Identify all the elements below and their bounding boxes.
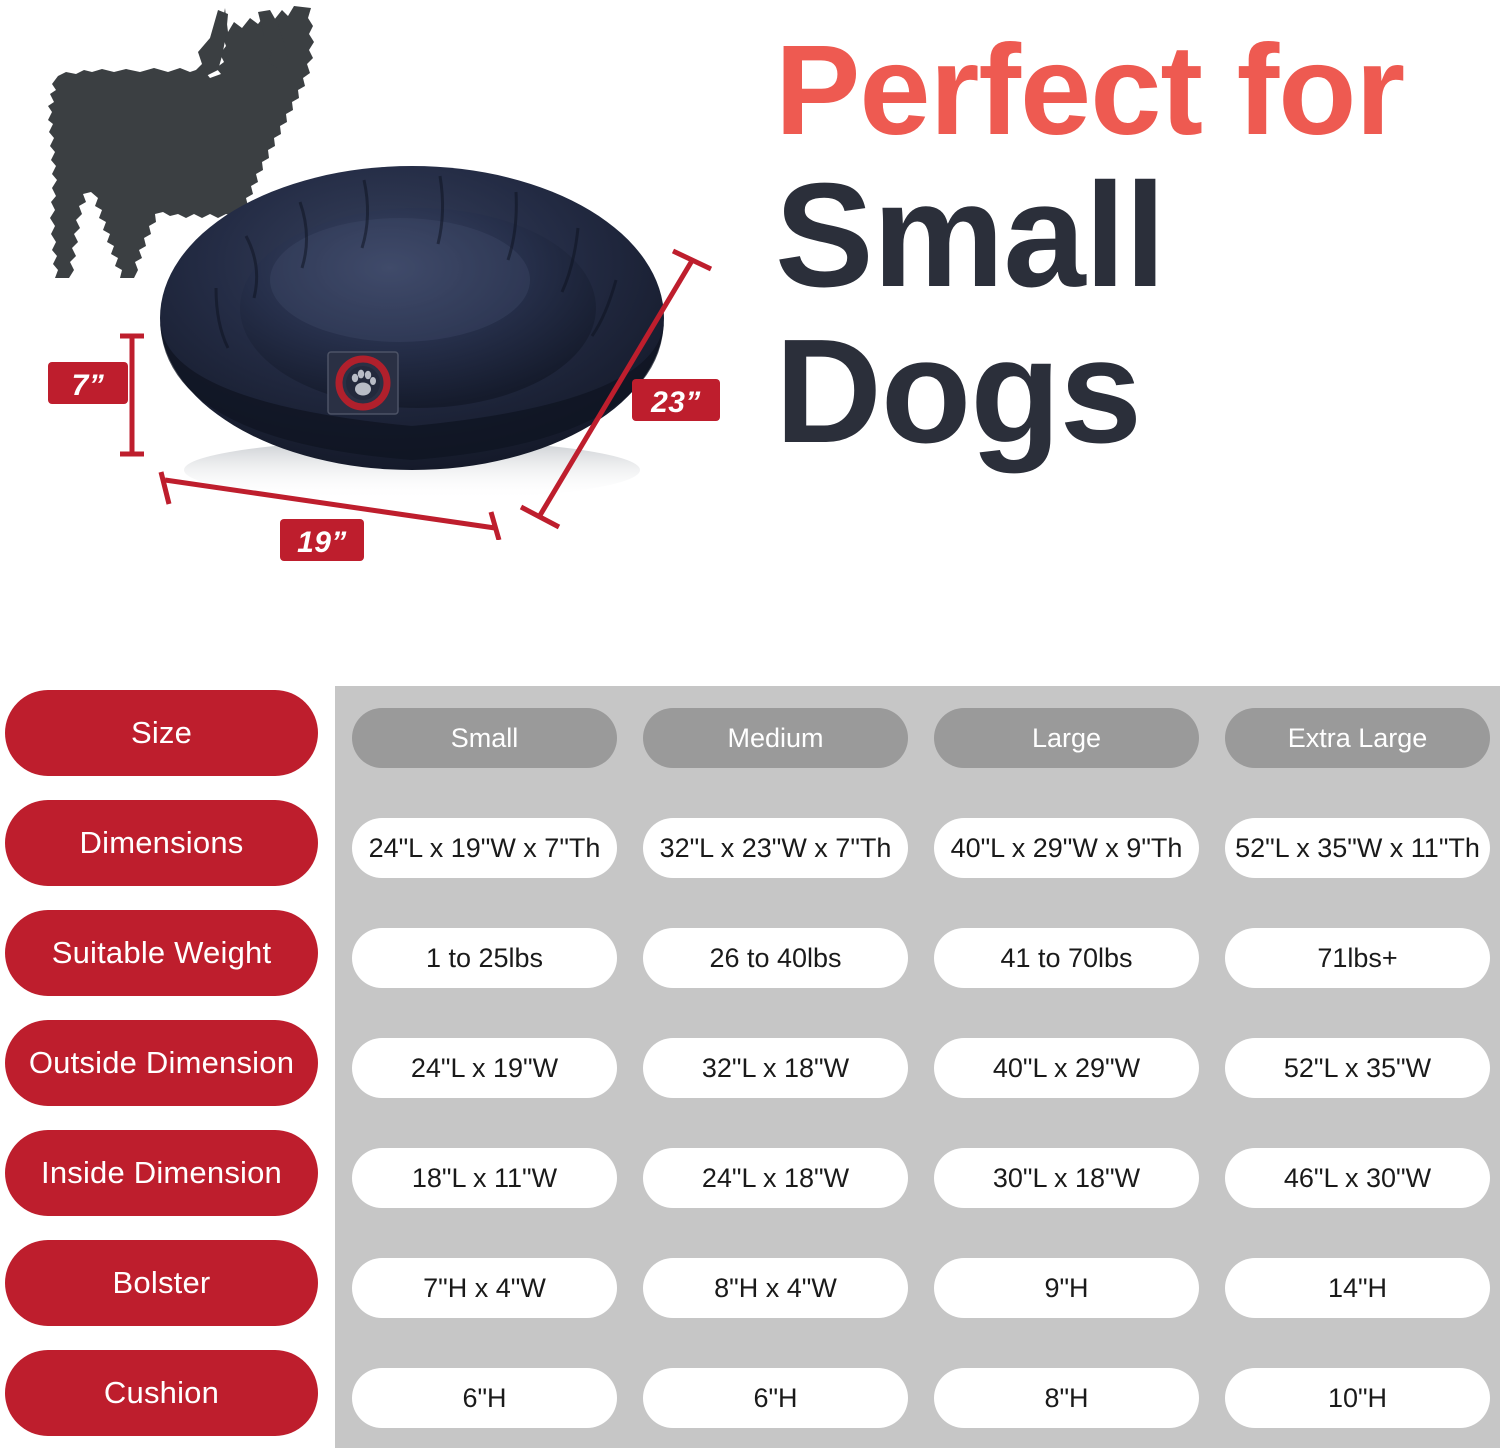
cell-dimensions-large: 40"L x 29"W x 9"Th [934,818,1199,878]
headline-line-3: Dogs [775,319,1485,466]
cell-inside-dimension-small: 18"L x 11"W [352,1148,617,1208]
table-grid: Small Medium Large Extra Large 24"L x 19… [352,686,1490,1448]
row-label-bolster: Bolster [5,1240,318,1326]
cell-dimensions-small: 24"L x 19"W x 7"Th [352,818,617,878]
dimension-label-width: 19” [280,519,364,561]
headline: Perfect for Small Dogs [775,28,1485,466]
cell-cushion-extra-large: 10"H [1225,1368,1490,1428]
cell-suitable-weight-extra-large: 71lbs+ [1225,928,1490,988]
cell-inside-dimension-extra-large: 46"L x 30"W [1225,1148,1490,1208]
row-label-dimensions: Dimensions [5,800,318,886]
cell-outside-dimension-extra-large: 52"L x 35"W [1225,1038,1490,1098]
cell-cushion-small: 6"H [352,1368,617,1428]
cell-outside-dimension-small: 24"L x 19"W [352,1038,617,1098]
cell-dimensions-extra-large: 52"L x 35"W x 11"Th [1225,818,1490,878]
cell-suitable-weight-medium: 26 to 40lbs [643,928,908,988]
brand-tag [328,352,398,414]
cell-dimensions-medium: 32"L x 23"W x 7"Th [643,818,908,878]
cell-bolster-large: 9"H [934,1258,1199,1318]
cell-inside-dimension-large: 30"L x 18"W [934,1148,1199,1208]
row-label-cushion: Cushion [5,1350,318,1436]
cell-outside-dimension-medium: 32"L x 18"W [643,1038,908,1098]
cell-inside-dimension-medium: 24"L x 18"W [643,1148,908,1208]
cell-suitable-weight-small: 1 to 25lbs [352,928,617,988]
cell-bolster-extra-large: 14"H [1225,1258,1490,1318]
hero-section: 7” 19” 23” Perfect for Small Dogs [0,0,1500,672]
headline-line-1: Perfect for [775,28,1485,155]
column-header-large: Large [934,708,1199,768]
column-header-medium: Medium [643,708,908,768]
row-label-inside-dimension: Inside Dimension [5,1130,318,1216]
row-label-column: Size Dimensions Suitable Weight Outside … [0,672,335,1448]
product-infographic: 7” 19” 23” Perfect for Small Dogs Size D… [0,0,1500,1448]
cell-outside-dimension-large: 40"L x 29"W [934,1038,1199,1098]
row-label-outside-dimension: Outside Dimension [5,1020,318,1106]
dimension-label-depth: 23” [632,379,720,421]
column-header-small: Small [352,708,617,768]
row-label-size: Size [5,690,318,776]
cell-cushion-large: 8"H [934,1368,1199,1428]
headline-line-2: Small [775,163,1485,310]
specification-table: Size Dimensions Suitable Weight Outside … [0,672,1500,1448]
cell-bolster-small: 7"H x 4"W [352,1258,617,1318]
cell-bolster-medium: 8"H x 4"W [643,1258,908,1318]
cell-suitable-weight-large: 41 to 70lbs [934,928,1199,988]
column-header-extra-large: Extra Large [1225,708,1490,768]
row-label-suitable-weight: Suitable Weight [5,910,318,996]
dimension-label-height: 7” [48,362,128,404]
cell-cushion-medium: 6"H [643,1368,908,1428]
